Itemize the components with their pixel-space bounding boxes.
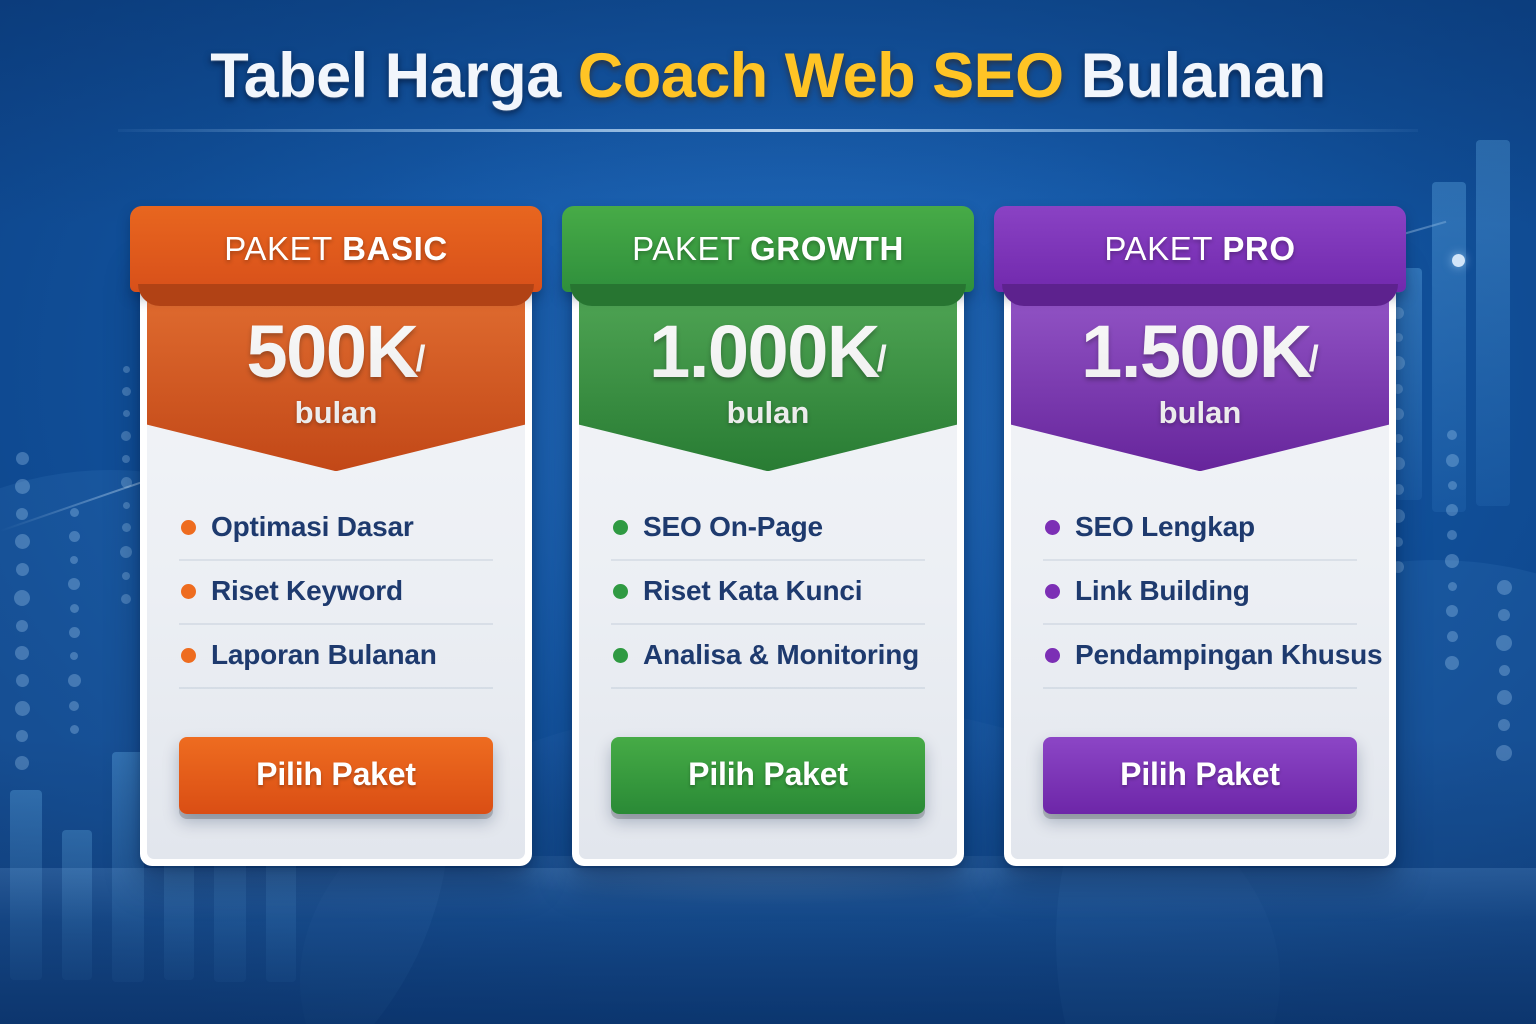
bullet-icon: [613, 584, 628, 599]
pricing-card-list: PAKET BASIC 500K/ bulan Optimasi DasarRi…: [0, 206, 1536, 866]
feature-list: SEO On-PageRiset Kata KunciAnalisa & Mon…: [579, 471, 957, 689]
feature-item: Riset Kata Kunci: [611, 561, 925, 625]
price-slash: /: [877, 338, 887, 379]
pricing-card-inner: 500K/ bulan Optimasi DasarRiset KeywordL…: [147, 259, 525, 859]
pricing-card-body: 1.000K/ bulan SEO On-PageRiset Kata Kunc…: [572, 252, 964, 866]
page-title-part1: Tabel Harga: [210, 41, 577, 111]
background-floor-glow: [318, 856, 1218, 1006]
price-period: bulan: [579, 395, 957, 431]
feature-label: Riset Kata Kunci: [643, 575, 862, 607]
feature-label: SEO Lengkap: [1075, 511, 1255, 543]
plan-name: PAKET PRO: [1104, 230, 1295, 268]
price-slash: /: [415, 338, 425, 379]
feature-item: SEO On-Page: [611, 497, 925, 561]
cta-container: Pilih Paket: [1011, 689, 1389, 854]
select-plan-button[interactable]: Pilih Paket: [179, 737, 493, 814]
bullet-icon: [181, 584, 196, 599]
pricing-infographic: Tabel Harga Coach Web SEO Bulanan PAKET …: [0, 0, 1536, 1024]
feature-list: SEO LengkapLink BuildingPendampingan Khu…: [1011, 471, 1389, 689]
pricing-card-inner: 1.000K/ bulan SEO On-PageRiset Kata Kunc…: [579, 259, 957, 859]
bullet-icon: [613, 648, 628, 663]
pricing-card-body: 1.500K/ bulan SEO LengkapLink BuildingPe…: [1004, 252, 1396, 866]
bullet-icon: [1045, 648, 1060, 663]
select-plan-button[interactable]: Pilih Paket: [1043, 737, 1357, 814]
feature-label: Riset Keyword: [211, 575, 403, 607]
feature-label: Link Building: [1075, 575, 1250, 607]
plan-name-ribbon: PAKET GROWTH: [562, 206, 974, 292]
feature-label: SEO On-Page: [643, 511, 823, 543]
price-period: bulan: [147, 395, 525, 431]
price-amount: 500K: [247, 317, 418, 387]
bullet-icon: [1045, 520, 1060, 535]
feature-label: Laporan Bulanan: [211, 639, 437, 671]
feature-item: SEO Lengkap: [1043, 497, 1357, 561]
select-plan-button[interactable]: Pilih Paket: [611, 737, 925, 814]
plan-name: PAKET BASIC: [224, 230, 448, 268]
price-amount: 1.500K: [1081, 317, 1311, 387]
bullet-icon: [181, 648, 196, 663]
background-floor: [0, 868, 1536, 1024]
feature-label: Pendampingan Khusus: [1075, 639, 1382, 671]
feature-item: Pendampingan Khusus: [1043, 625, 1357, 689]
pricing-card-body: 500K/ bulan Optimasi DasarRiset KeywordL…: [140, 252, 532, 866]
pricing-card-inner: 1.500K/ bulan SEO LengkapLink BuildingPe…: [1011, 259, 1389, 859]
bullet-icon: [181, 520, 196, 535]
plan-name-ribbon: PAKET BASIC: [130, 206, 542, 292]
feature-item: Riset Keyword: [179, 561, 493, 625]
price-period: bulan: [1011, 395, 1389, 431]
title-divider: [118, 129, 1418, 132]
feature-label: Optimasi Dasar: [211, 511, 414, 543]
plan-name-ribbon: PAKET PRO: [994, 206, 1406, 292]
pricing-card-basic[interactable]: PAKET BASIC 500K/ bulan Optimasi DasarRi…: [140, 206, 532, 866]
page-title-accent: Coach Web SEO: [578, 41, 1064, 111]
feature-label: Analisa & Monitoring: [643, 639, 919, 671]
price-amount: 1.000K: [649, 317, 879, 387]
feature-item: Optimasi Dasar: [179, 497, 493, 561]
cta-container: Pilih Paket: [147, 689, 525, 854]
feature-item: Laporan Bulanan: [179, 625, 493, 689]
bullet-icon: [1045, 584, 1060, 599]
pricing-card-growth[interactable]: PAKET GROWTH 1.000K/ bulan SEO On-PageRi…: [572, 206, 964, 866]
price-slash: /: [1309, 338, 1319, 379]
feature-list: Optimasi DasarRiset KeywordLaporan Bulan…: [147, 471, 525, 689]
feature-item: Analisa & Monitoring: [611, 625, 925, 689]
plan-name: PAKET GROWTH: [632, 230, 904, 268]
cta-container: Pilih Paket: [579, 689, 957, 854]
page-title-part2: Bulanan: [1064, 41, 1326, 111]
page-title: Tabel Harga Coach Web SEO Bulanan: [0, 40, 1536, 112]
bullet-icon: [613, 520, 628, 535]
pricing-card-pro[interactable]: PAKET PRO 1.500K/ bulan SEO LengkapLink …: [1004, 206, 1396, 866]
feature-item: Link Building: [1043, 561, 1357, 625]
